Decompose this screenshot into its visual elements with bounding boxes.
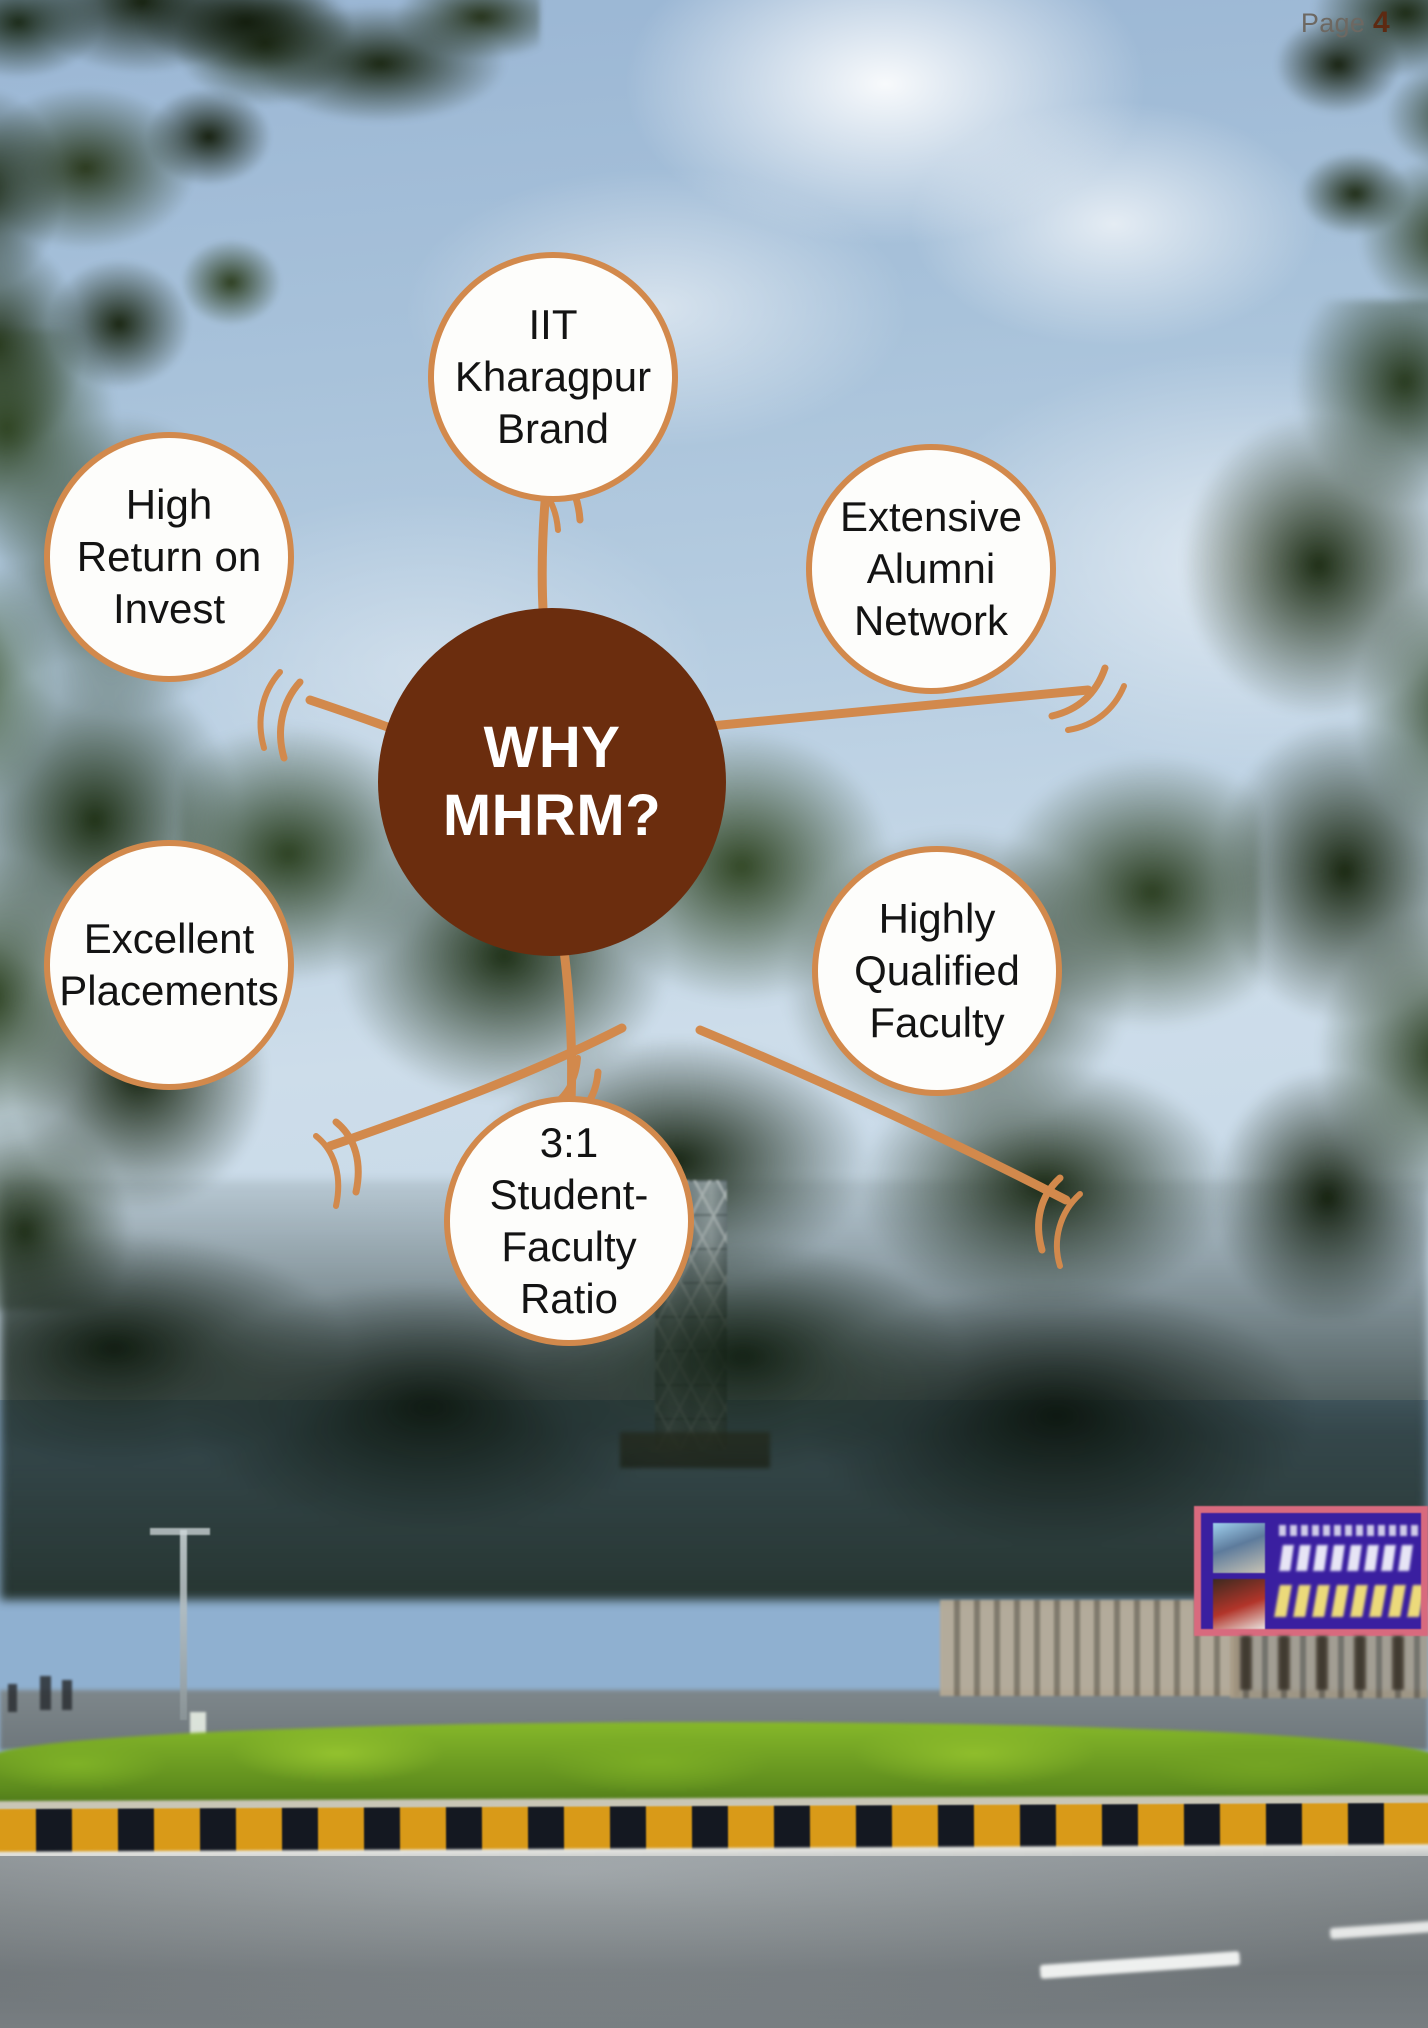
connector-faculty-flourish	[1039, 1178, 1060, 1250]
connector-faculty-flourish2	[1057, 1194, 1080, 1266]
connector-alumni-flourish2	[1068, 686, 1124, 730]
page-number: Page 4	[1301, 6, 1390, 40]
node-excellent-placements[interactable]: Excellent Placements	[44, 840, 294, 1090]
page-number-value: 4	[1373, 6, 1390, 39]
node-label: Excellent Placements	[45, 913, 292, 1017]
node-student-faculty-ratio[interactable]: 3:1 Student-Faculty Ratio	[444, 1096, 694, 1346]
node-label: Extensive Alumni Network	[812, 491, 1050, 647]
node-label: 3:1 Student-Faculty Ratio	[450, 1117, 688, 1325]
connector-roi-flourish2	[261, 672, 280, 748]
hub-why-mhrm[interactable]: WHY MHRM?	[378, 608, 726, 956]
slide-page: Page 4	[0, 0, 1428, 2028]
node-iit-kharagpur-brand[interactable]: IIT Kharagpur Brand	[428, 252, 678, 502]
connector-placements-flourish2	[316, 1136, 338, 1206]
node-label: High Return on Invest	[50, 479, 288, 635]
connector-alumni	[690, 690, 1088, 728]
connector-alumni-flourish	[1052, 668, 1105, 716]
node-high-return-on-invest[interactable]: High Return on Invest	[44, 432, 294, 682]
connector-placements-flourish	[336, 1122, 358, 1192]
node-extensive-alumni-network[interactable]: Extensive Alumni Network	[806, 444, 1056, 694]
node-highly-qualified-faculty[interactable]: Highly Qualified Faculty	[812, 846, 1062, 1096]
connector-ratio	[564, 950, 572, 1120]
hub-line-2: MHRM?	[443, 782, 661, 850]
page-label: Page	[1301, 8, 1365, 38]
connector-roi-flourish	[281, 682, 300, 758]
why-mhrm-diagram: WHY MHRM? IIT Kharagpur Brand Extensive …	[0, 0, 1428, 2028]
hub-line-1: WHY	[443, 714, 661, 782]
node-label: Highly Qualified Faculty	[818, 893, 1056, 1049]
node-label: IIT Kharagpur Brand	[434, 299, 672, 455]
